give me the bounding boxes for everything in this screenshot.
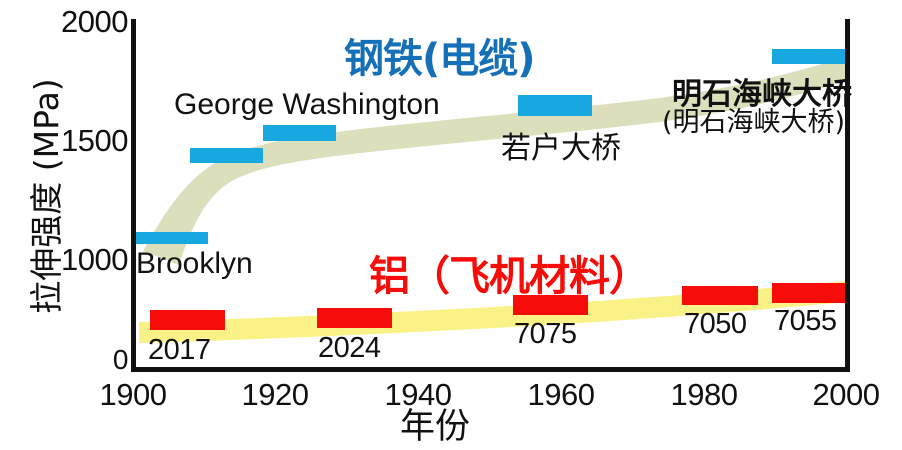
x-tick-1980: 1980	[671, 377, 738, 413]
bar-steel-george-washington-1	[190, 148, 263, 163]
x-tick-1960: 1960	[528, 377, 595, 413]
annotation-alloy-7055: 7055	[774, 305, 837, 338]
bar-steel-george-washington-2	[263, 125, 336, 141]
x-tick-2000: 2000	[813, 377, 880, 413]
bar-aluminum-2024	[317, 308, 392, 328]
y-axis-title: 拉伸强度 (MPa)	[20, 31, 68, 361]
annotation-alloy-7075: 7075	[514, 318, 577, 351]
x-axis-title: 年份	[400, 398, 470, 449]
bar-aluminum-7050	[682, 286, 758, 305]
chart-root: 2000 1500 1000 0 拉伸强度 (MPa) 钢铁(电缆) 铝（飞机材…	[0, 0, 902, 450]
x-tick-1920: 1920	[242, 377, 309, 413]
bar-aluminum-7055	[772, 283, 845, 303]
annotation-alloy-2024: 2024	[318, 332, 381, 365]
annotation-george-washington: George Washington	[174, 88, 440, 122]
annotation-wakato: 若户大桥	[501, 123, 621, 167]
bar-steel-brooklyn	[136, 232, 208, 244]
bar-steel-akashi	[772, 49, 845, 64]
annotation-alloy-7050: 7050	[684, 308, 747, 341]
annotation-alloy-2017: 2017	[148, 334, 211, 367]
x-tick-1900: 1900	[100, 377, 167, 413]
bar-aluminum-2017	[150, 310, 225, 330]
annotation-akashi-line2: (明石海峡大桥)	[662, 100, 845, 139]
series-title-steel: 钢铁(电缆)	[344, 26, 535, 84]
bar-steel-wakato	[518, 95, 592, 116]
series-title-aluminum: 铝（飞机材料）	[369, 242, 649, 302]
annotation-brooklyn: Brooklyn	[136, 247, 253, 281]
